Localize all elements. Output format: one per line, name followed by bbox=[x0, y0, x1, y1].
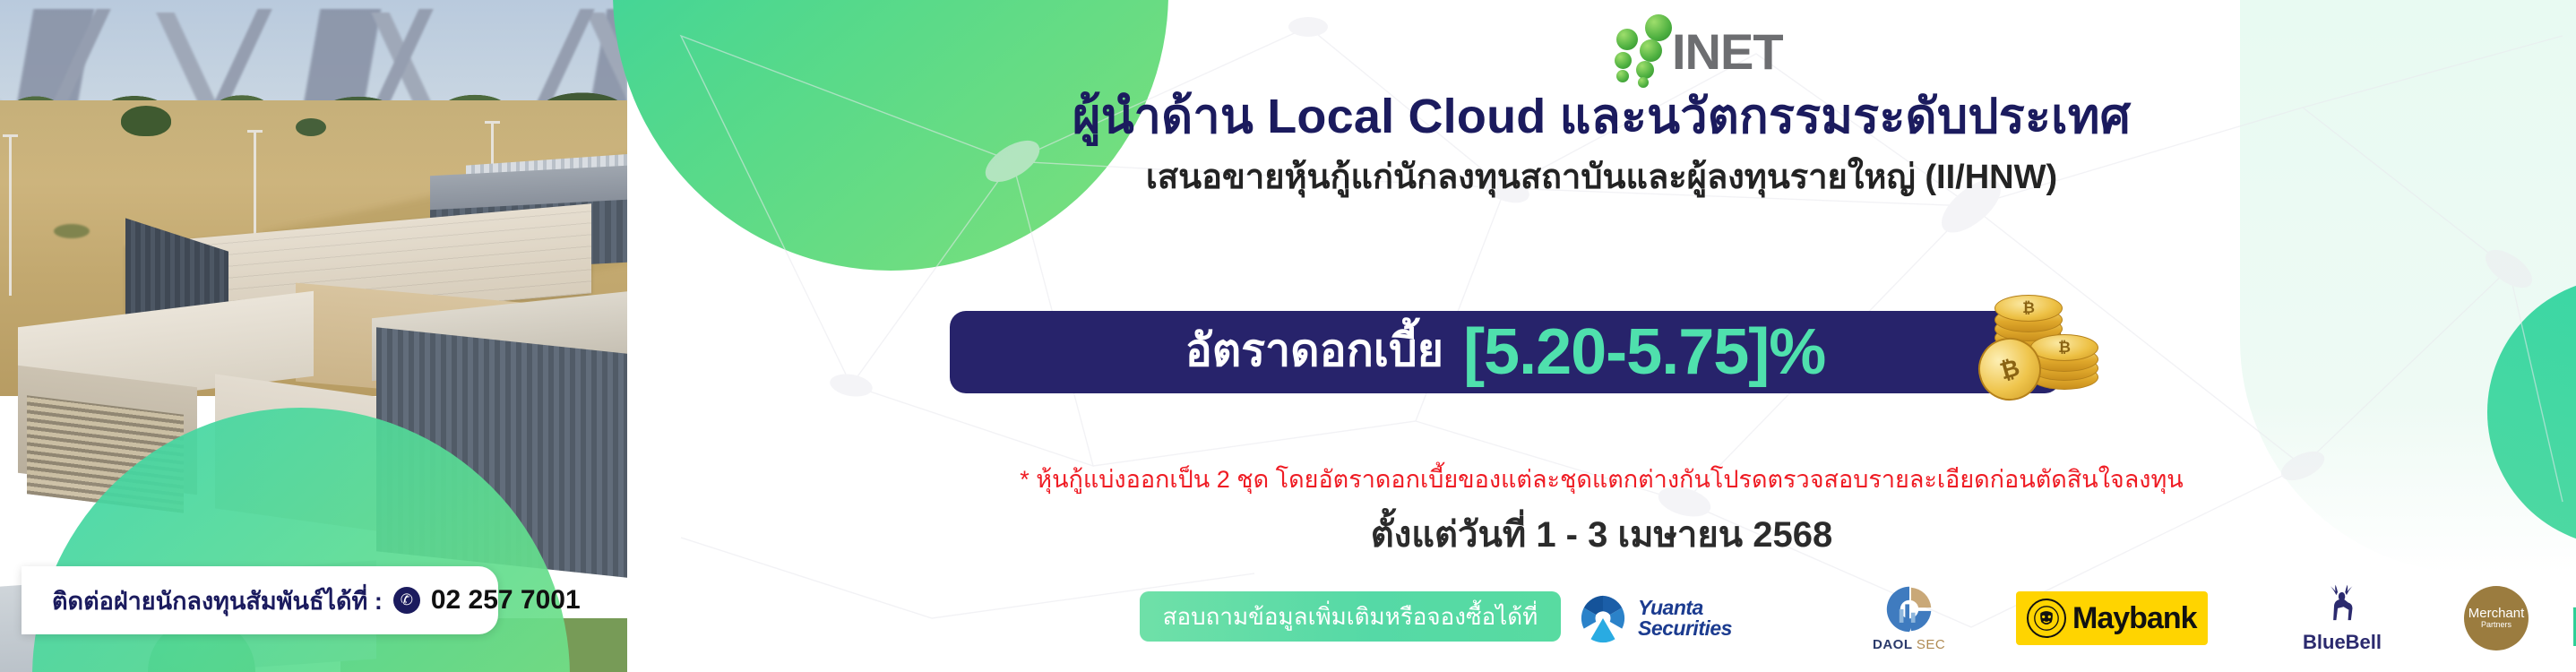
utility-pole bbox=[9, 134, 12, 296]
bluebell-deer-icon bbox=[2320, 583, 2365, 629]
broker-logos: Yuanta Securities bbox=[1577, 582, 2545, 654]
broker-logo-pi[interactable]: pi bbox=[2570, 582, 2576, 654]
tree bbox=[296, 118, 326, 136]
interest-rate-badge: อัตราดอกเบี้ย [5.20-5.75]% bbox=[950, 311, 2061, 393]
maybank-wordmark: Maybank bbox=[2072, 601, 2197, 636]
bluebell-wordmark: BlueBell bbox=[2303, 631, 2382, 654]
content-area: INET ผู้นำด้าน Local Cloud และนวัตกรรมระ… bbox=[627, 0, 2576, 672]
inet-dots-logo-icon bbox=[1604, 13, 1681, 82]
page-title: ผู้นำด้าน Local Cloud และนวัตกรรมระดับปร… bbox=[627, 77, 2576, 154]
pi-logo-icon: pi bbox=[2570, 598, 2576, 639]
merchant-wordmark-line1: Merchant bbox=[2468, 607, 2525, 621]
daol-wordmark: DAOL SEC bbox=[1873, 637, 1945, 652]
maybank-tiger-icon bbox=[2027, 599, 2066, 638]
offer-period: ตั้งแต่วันที่ 1 - 3 เมษายน 2568 bbox=[627, 505, 2576, 563]
contact-phone-number[interactable]: 02 257 7001 bbox=[431, 585, 581, 616]
interest-rate-label: อัตราดอกเบี้ย bbox=[1185, 328, 1443, 373]
phone-icon: ✆ bbox=[393, 587, 420, 614]
yuanta-compass-icon bbox=[1577, 592, 1629, 644]
inet-logo-text: INET bbox=[1672, 27, 1783, 77]
merchant-wordmark-line2: Partners bbox=[2481, 621, 2511, 629]
interest-rate-value: [5.20-5.75]% bbox=[1463, 320, 1825, 384]
subscribe-cta-button[interactable]: สอบถามข้อมูลเพิ่มเติมหรือจองซื้อได้ที่ bbox=[1140, 591, 1561, 642]
broker-logo-merchant-partners[interactable]: Merchant Partners bbox=[2464, 582, 2529, 654]
disclaimer-text: * หุ้นกู้แบ่งออกเป็น 2 ชุด โดยอัตราดอกเบ… bbox=[627, 460, 2576, 498]
tree bbox=[121, 106, 171, 136]
gold-coins-icon: ₿ ₿ ₿ bbox=[1971, 282, 2124, 399]
merchant-circle-icon: Merchant Partners bbox=[2464, 586, 2529, 650]
contact-label: ติดต่อฝ่ายนักลงทุนสัมพันธ์ได้ที่ : bbox=[52, 582, 383, 620]
broker-logo-maybank[interactable]: Maybank bbox=[2016, 582, 2208, 654]
investor-relations-contact[interactable]: ติดต่อฝ่ายนักลงทุนสัมพันธ์ได้ที่ : ✆ 02 … bbox=[22, 566, 498, 634]
broker-logo-bluebell[interactable]: BlueBell bbox=[2303, 582, 2382, 654]
bush bbox=[54, 224, 90, 238]
inet-logo[interactable]: INET bbox=[1604, 13, 1837, 82]
broker-logo-daol[interactable]: DAOL SEC bbox=[1873, 582, 1945, 654]
yuanta-wordmark: Yuanta Securities bbox=[1638, 598, 1732, 640]
daol-pie-icon bbox=[1884, 584, 1934, 634]
broker-logo-yuanta[interactable]: Yuanta Securities bbox=[1577, 582, 1732, 654]
promo-banner: INET ผู้นำด้าน Local Cloud และนวัตกรรมระ… bbox=[0, 0, 2576, 672]
page-subtitle: เสนอขายหุ้นกู้แก่นักลงทุนสถาบันและผู้ลงท… bbox=[627, 149, 2576, 203]
